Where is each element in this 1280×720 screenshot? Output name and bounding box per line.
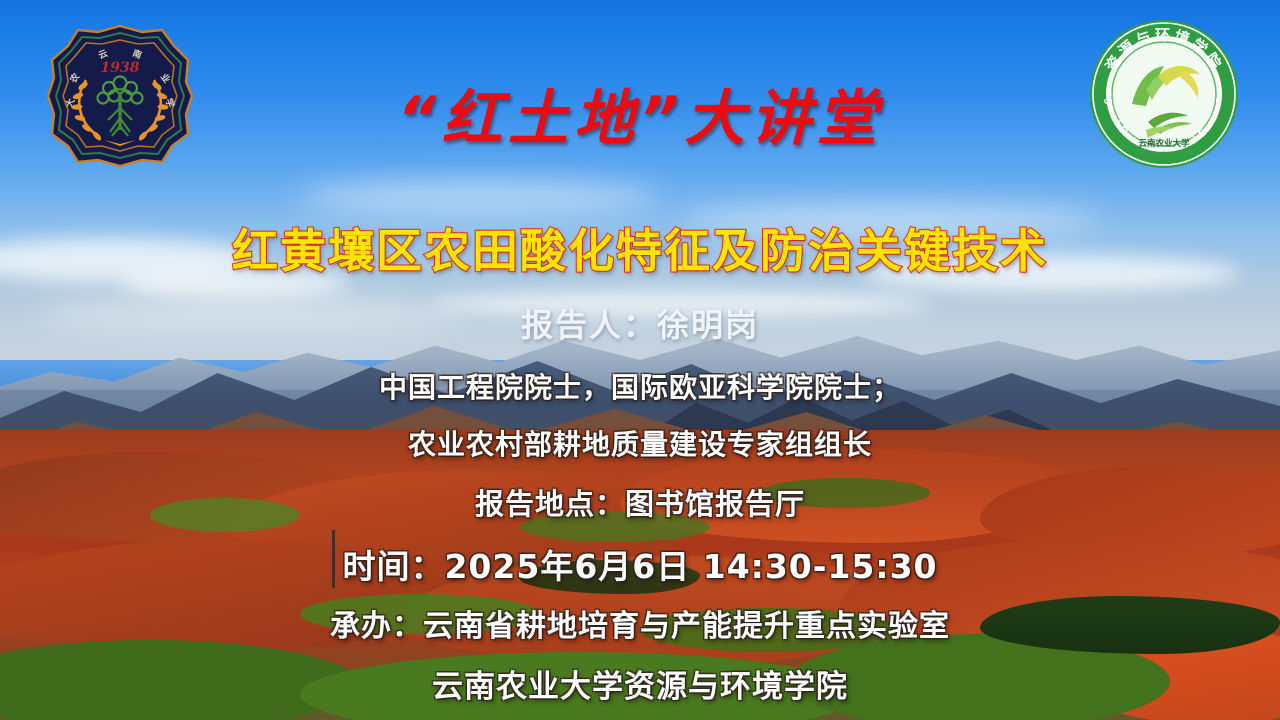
time-line: 时间：2025年6月6日 14:30-15:30	[0, 540, 1280, 588]
lecture-poster: 云 南 农 业 大 学 1938	[0, 0, 1280, 720]
speaker-line: 报告人：徐明岗	[0, 300, 1280, 346]
cloud-shape	[300, 180, 660, 214]
lecture-topic-title: 红黄壤区农田酸化特征及防治关键技术	[0, 215, 1280, 281]
lecture-series-title: “红土地”大讲堂	[0, 70, 1280, 157]
credential-line-1: 中国工程院院士，国际欧亚科学院院士；	[0, 366, 1280, 406]
organizer-line: 云南农业大学资源与环境学院	[0, 661, 1280, 706]
venue-line: 报告地点：图书馆报告厅	[0, 481, 1280, 523]
host-line: 承办：云南省耕地培育与产能提升重点实验室	[0, 601, 1280, 645]
credential-line-2: 农业农村部耕地质量建设专家组组长	[0, 423, 1280, 463]
